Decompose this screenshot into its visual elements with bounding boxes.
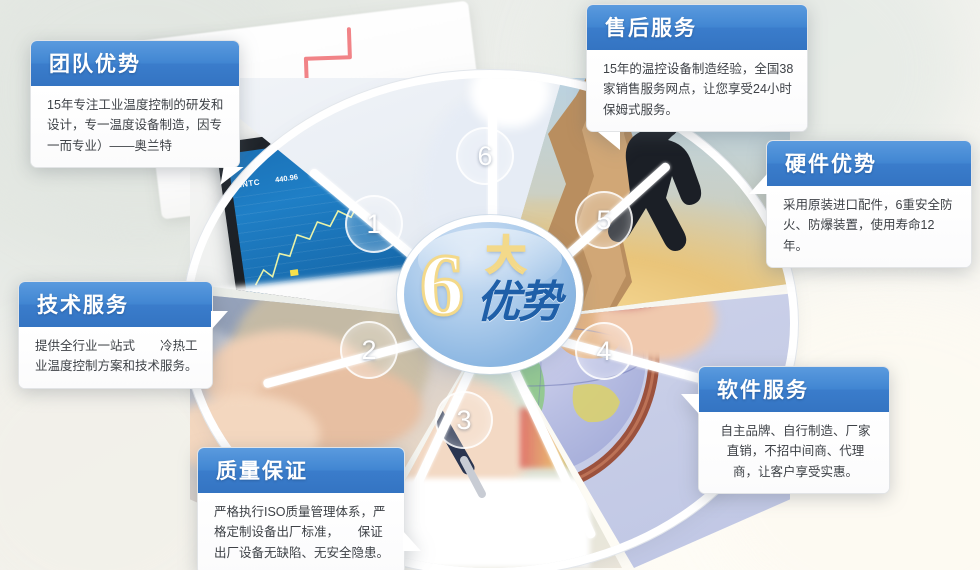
callout-technical-service[interactable]: 技术服务 提供全行业一站式 冷热工业温度控制方案和技术服务。 <box>18 281 213 389</box>
center-hub[interactable]: 6 大 优势 <box>404 222 576 367</box>
segment-badge-4[interactable]: 4 <box>575 322 633 380</box>
tablet-marker-low <box>290 269 299 276</box>
callout-hardware-advantage[interactable]: 硬件优势 采用原装进口配件，6重安全防火、防爆装置，使用寿命12年。 <box>766 140 972 268</box>
hub-big-char: 大 <box>486 236 526 276</box>
callout-quality-assurance[interactable]: 质量保证 严格执行ISO质量管理体系，严格定制设备出厂标准， 保证出厂设备无缺陷… <box>197 447 405 570</box>
segment-badge-2-label: 2 <box>361 335 376 366</box>
callout-team-tail <box>220 167 243 185</box>
callout-tech-title: 技术服务 <box>19 282 212 327</box>
callout-software-tail <box>681 394 699 414</box>
callout-team-advantage[interactable]: 团队优势 15年专注工业温度控制的研发和设计，专一温度设备制造，因专一而专业）—… <box>30 40 240 168</box>
tablet-ticker: INTC <box>239 178 261 190</box>
callout-tech-body: 提供全行业一站式 冷热工业温度控制方案和技术服务。 <box>19 327 212 388</box>
callout-software-body: 自主品牌、自行制造、厂家直销，不招中间商、代理商，让客户享受实惠。 <box>699 412 889 493</box>
segment-badge-3[interactable]: 3 <box>435 391 493 449</box>
callout-quality-title: 质量保证 <box>198 448 404 493</box>
segment-badge-5[interactable]: 5 <box>575 191 633 249</box>
callout-team-body: 15年专注工业温度控制的研发和设计，专一温度设备制造，因专一而专业）——奥兰特 <box>31 86 239 167</box>
infographic-canvas: STOCK MARKET DATA INTC 440.96 <box>0 0 980 570</box>
callout-after-sales-body: 15年的温控设备制造经验，全国38家销售服务网点，让您享受24小时保姆式服务。 <box>587 50 807 131</box>
callout-after-sales[interactable]: 售后服务 15年的温控设备制造经验，全国38家销售服务网点，让您享受24小时保姆… <box>586 4 808 132</box>
callout-hardware-tail <box>749 174 767 194</box>
segment-badge-5-label: 5 <box>596 205 611 236</box>
callout-hardware-body: 采用原装进口配件，6重安全防火、防爆装置，使用寿命12年。 <box>767 186 971 267</box>
callout-after-sales-tail <box>598 132 620 150</box>
segment-badge-4-label: 4 <box>596 336 611 367</box>
segment-badge-2[interactable]: 2 <box>340 321 398 379</box>
segment-badge-3-label: 3 <box>456 405 471 436</box>
callout-quality-body: 严格执行ISO质量管理体系，严格定制设备出厂标准， 保证出厂设备无缺陷、无安全隐… <box>198 493 404 570</box>
callout-tech-tail <box>211 311 228 330</box>
callout-quality-tail <box>403 531 421 551</box>
callout-software-title: 软件服务 <box>699 367 889 412</box>
tablet-price: 440.96 <box>275 172 299 184</box>
segment-badge-1[interactable]: 1 <box>345 195 403 253</box>
callout-after-sales-title: 售后服务 <box>587 5 807 50</box>
hub-number: 6 <box>420 242 464 330</box>
segment-badge-6-label: 6 <box>477 141 492 172</box>
callout-team-title: 团队优势 <box>31 41 239 86</box>
callout-hardware-title: 硬件优势 <box>767 141 971 186</box>
hub-script-text: 优势 <box>476 280 560 326</box>
segment-badge-6[interactable]: 6 <box>456 127 514 185</box>
callout-software-service[interactable]: 软件服务 自主品牌、自行制造、厂家直销，不招中间商、代理商，让客户享受实惠。 <box>698 366 890 494</box>
segment-badge-1-label: 1 <box>366 209 381 240</box>
